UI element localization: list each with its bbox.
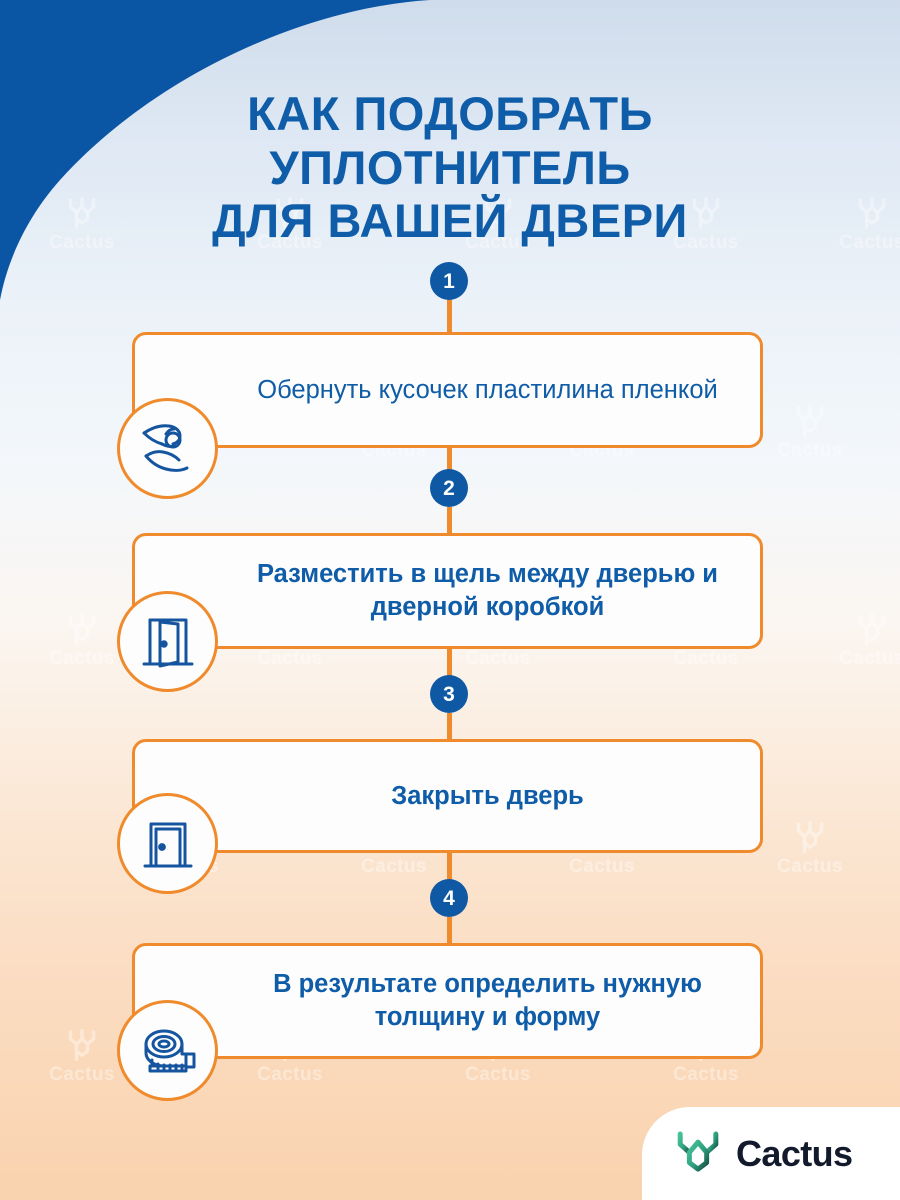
step-badge-2: 2 [430, 469, 468, 507]
step-icon-3 [117, 793, 218, 894]
title-line-2: УПЛОТНИТЕЛЬ [0, 141, 900, 194]
closed-door-icon [136, 812, 200, 876]
step-icon-1 [117, 398, 218, 499]
step-text-4: В результате определить нужную толщину и… [135, 968, 760, 1033]
title-line-1: КАК ПОДОБРАТЬ [0, 87, 900, 140]
step-badge-3: 3 [430, 675, 468, 713]
cactus-logo-icon [672, 1127, 724, 1181]
step-text-3: Закрыть дверь [271, 780, 623, 813]
step-badge-4: 4 [430, 879, 468, 917]
step-badge-1: 1 [430, 262, 468, 300]
step-icon-4 [117, 1000, 218, 1101]
step-card-2[interactable]: Разместить в щель между дверью и дверной… [132, 533, 763, 649]
infographic-poster: Cactus Cactus Cactus Cactus [0, 0, 900, 1200]
connector-line [447, 507, 452, 533]
hands-wrapping-icon [135, 416, 201, 482]
step-card-4[interactable]: В результате определить нужную толщину и… [132, 943, 763, 1059]
step-card-3[interactable]: Закрыть дверь [132, 739, 763, 853]
measuring-tape-icon [136, 1019, 200, 1083]
step-icon-2 [117, 591, 218, 692]
connector-line [447, 917, 452, 943]
page-title: КАК ПОДОБРАТЬ УПЛОТНИТЕЛЬ ДЛЯ ВАШЕЙ ДВЕР… [0, 87, 900, 246]
brand-logo-plate: Cactus [642, 1107, 900, 1200]
connector-line [447, 713, 452, 739]
open-door-icon [136, 610, 200, 674]
step-text-1: Обернуть кусочек пластилина пленкой [137, 374, 758, 407]
title-line-3: ДЛЯ ВАШЕЙ ДВЕРИ [0, 194, 900, 247]
step-card-1[interactable]: Обернуть кусочек пластилина пленкой [132, 332, 763, 448]
step-text-2: Разместить в щель между дверью и дверной… [135, 558, 760, 623]
brand-name: Cactus [736, 1133, 852, 1175]
